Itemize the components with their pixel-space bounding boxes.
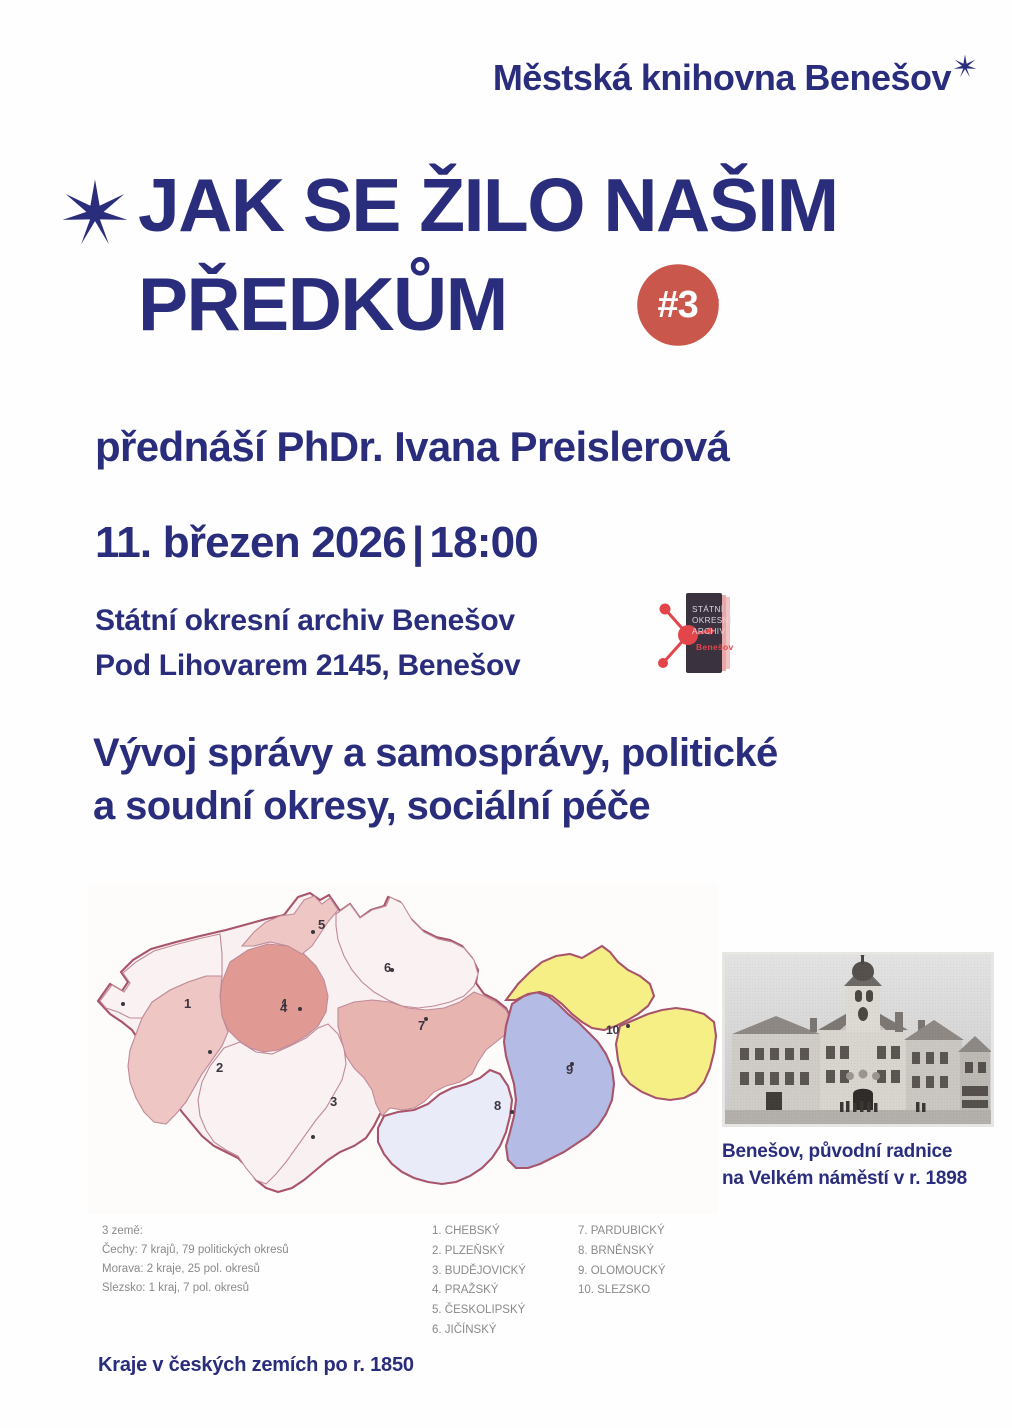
organization-name: Městská knihovna Benešov [493, 57, 951, 98]
map-label-region-1: 1 [184, 996, 191, 1011]
title-line-1-row: JAK SE ŽILO NAŠIM [58, 170, 958, 252]
archive-book-icon: STÁTNÍ OKRESNÍ ARCHIV Benešov [648, 588, 740, 680]
page-title-line-1: JAK SE ŽILO NAŠIM [138, 170, 838, 241]
map-label-3: 3 [330, 1094, 337, 1109]
topic-line-1: Vývoj správy a samosprávy, politické [93, 727, 993, 780]
svg-text:4: 4 [280, 1000, 288, 1015]
svg-text:ARCHIV: ARCHIV [692, 627, 725, 636]
legend-item: 7. PARDUBICKÝ [578, 1222, 666, 1242]
legend-item: 10. SLEZSKO [578, 1281, 666, 1301]
map-figure: 1 1 2 3 4 5 6 7 8 9 10 1 4 [88, 884, 718, 1354]
photo-figure: Benešov, původní radnice na Velkém náměs… [722, 952, 994, 1193]
map-label-5: 5 [318, 917, 325, 932]
star-icon [58, 178, 132, 252]
map-label-10: 10 [606, 1023, 620, 1037]
legend-summary-row: Čechy: 7 krajů, 79 politických okresů [102, 1241, 352, 1260]
photo-caption: Benešov, původní radnice na Velkém náměs… [722, 1139, 994, 1193]
town-hall-illustration [722, 952, 994, 1127]
legend-item: 8. BRNĚNSKÝ [578, 1242, 666, 1262]
svg-text:Benešov: Benešov [696, 642, 734, 652]
map-legend: 3 země: Čechy: 7 krajů, 79 politických o… [102, 1222, 722, 1341]
legend-item: 4. PRAŽSKÝ [432, 1281, 526, 1301]
legend-item: 1. CHEBSKÝ [432, 1222, 526, 1242]
svg-text:STÁTNÍ: STÁTNÍ [692, 604, 724, 614]
legend-summary-row: Slezsko: 1 kraj, 7 pol. okresů [102, 1279, 352, 1298]
datetime-line: 11. březen 2026|18:00 [95, 518, 538, 568]
page-title-line-2: PŘEDKŮM [138, 269, 507, 340]
photo-caption-line-1: Benešov, původní radnice [722, 1139, 994, 1166]
historical-regions-map: 1 1 2 3 4 5 6 7 8 9 10 1 4 [88, 884, 718, 1214]
historic-town-hall-photo [722, 952, 994, 1127]
legend-column-1: 1. CHEBSKÝ 2. PLZEŇSKÝ 3. BUDĚJOVICKÝ 4.… [432, 1222, 526, 1341]
venue-address: Pod Lihovarem 2145, Benešov [95, 643, 520, 688]
title-block: JAK SE ŽILO NAŠIM PŘEDKŮM #3 [58, 170, 958, 356]
czech-lands-map-graphic: 1 1 2 3 4 5 6 7 8 9 10 1 4 [88, 884, 718, 1214]
legend-item: 3. BUDĚJOVICKÝ [432, 1262, 526, 1282]
venue-block: Státní okresní archiv Benešov Pod Lihova… [95, 598, 520, 688]
map-label-6: 6 [384, 960, 391, 975]
legend-summary: 3 země: Čechy: 7 krajů, 79 politických o… [102, 1222, 352, 1341]
event-date: 11. březen 2026 [95, 518, 406, 567]
legend-column-2: 7. PARDUBICKÝ 8. BRNĚNSKÝ 9. OLOMOUCKÝ 1… [578, 1222, 666, 1341]
star-icon [952, 50, 978, 76]
svg-text:OKRESNÍ: OKRESNÍ [692, 615, 732, 625]
event-time: 18:00 [429, 518, 538, 567]
venue-name: Státní okresní archiv Benešov [95, 598, 520, 643]
map-label-8: 8 [494, 1098, 501, 1113]
legend-item: 5. ČESKOLIPSKÝ [432, 1301, 526, 1321]
speaker-line: přednáší PhDr. Ivana Preislerová [95, 423, 729, 471]
map-label-7: 7 [418, 1018, 425, 1033]
legend-item: 9. OLOMOUCKÝ [578, 1262, 666, 1282]
legend-region-lists: 1. CHEBSKÝ 2. PLZEŇSKÝ 3. BUDĚJOVICKÝ 4.… [432, 1222, 666, 1341]
legend-item: 2. PLZEŇSKÝ [432, 1242, 526, 1262]
title-line-2-row: PŘEDKŮM #3 [138, 254, 958, 356]
organization-header: Městská knihovna Benešov [0, 60, 978, 96]
event-poster: Městská knihovna Benešov JAK SE ŽILO NAŠ… [0, 0, 1012, 1428]
legend-summary-heading: 3 země: [102, 1222, 352, 1241]
legend-summary-row: Morava: 2 kraje, 25 pol. okresů [102, 1260, 352, 1279]
topic-line-2: a soudní okresy, sociální péče [93, 780, 993, 833]
episode-badge: #3 [627, 254, 729, 356]
episode-number: #3 [658, 286, 698, 324]
map-label-2: 2 [216, 1060, 223, 1075]
map-caption: Kraje v českých zemích po r. 1850 [98, 1354, 414, 1377]
topic-block: Vývoj správy a samosprávy, politické a s… [93, 727, 993, 833]
photo-caption-line-2: na Velkém náměstí v r. 1898 [722, 1166, 994, 1193]
datetime-separator: | [412, 518, 424, 567]
legend-item: 6. JIČÍNSKÝ [432, 1321, 526, 1341]
